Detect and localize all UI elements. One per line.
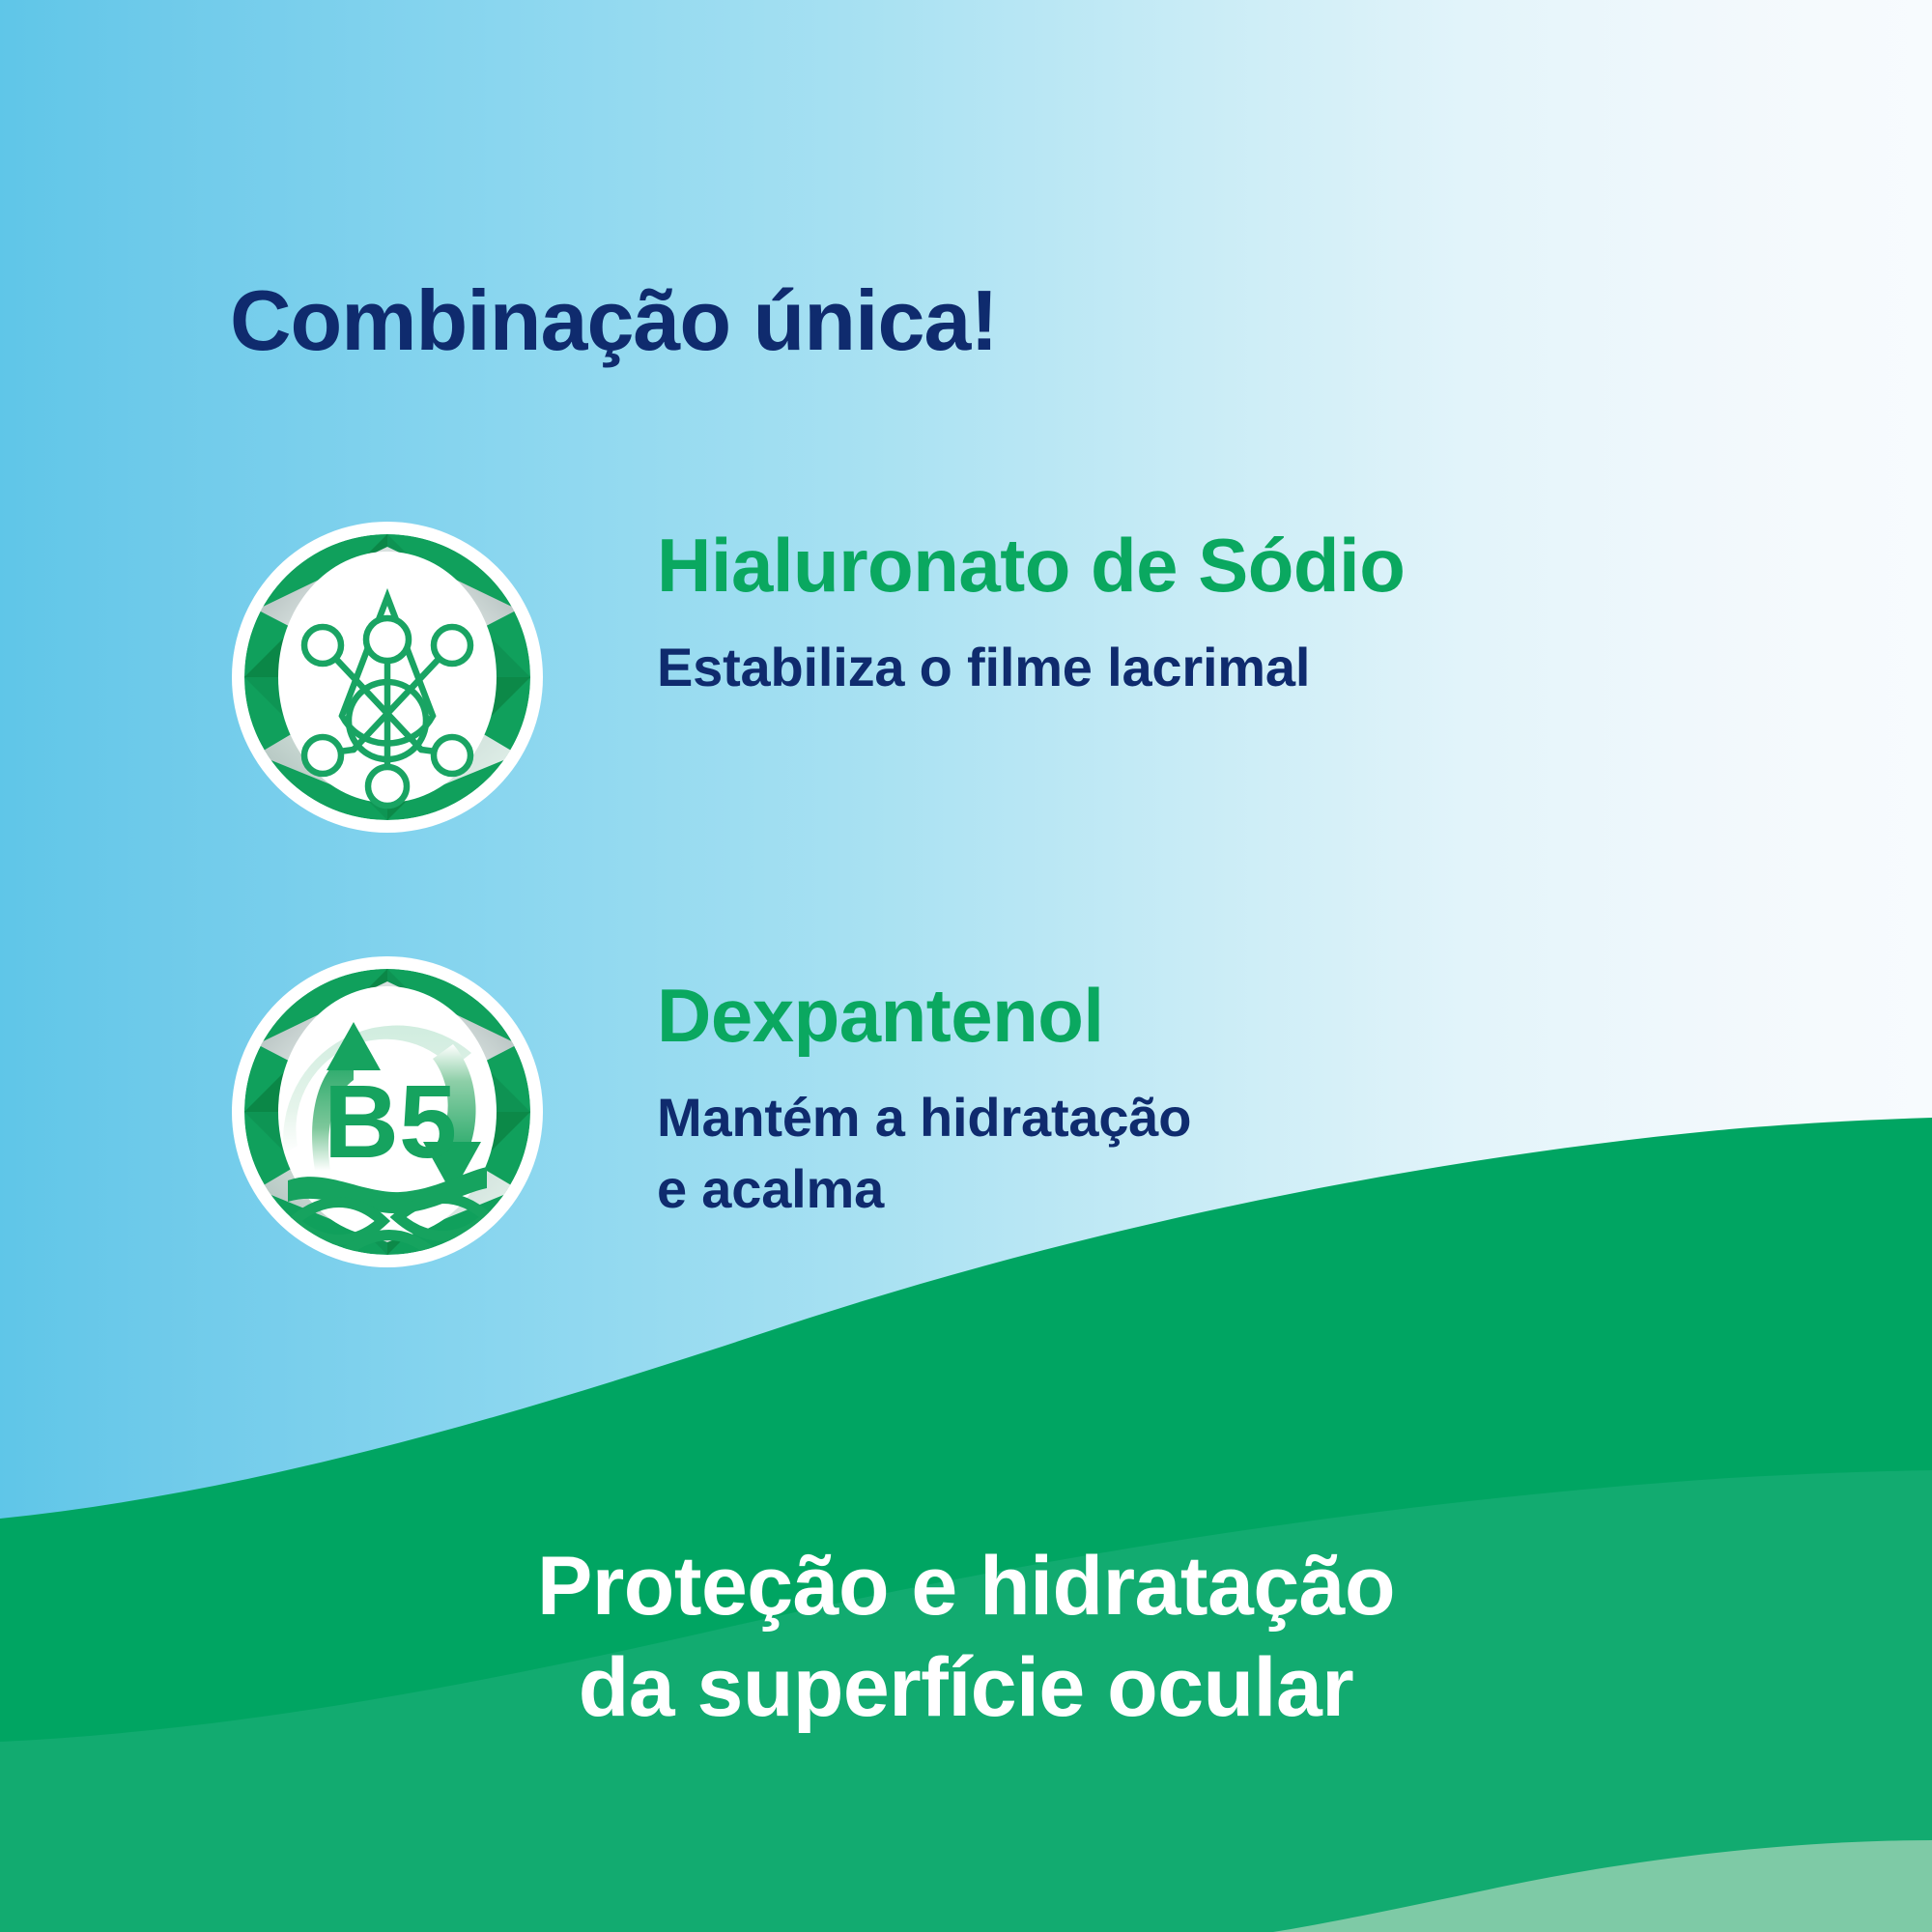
feature-title: Hialuronato de Sódio [657,527,1405,603]
feature-text-block: Hialuronato de Sódio Estabiliza o filme … [657,518,1405,703]
promo-poster: Combinação única! [0,0,1932,1932]
feature-row-hyaluronate: Hialuronato de Sódio Estabiliza o filme … [228,518,1405,837]
feature-text-block: Dexpantenol Mantém a hidratação e acalma [657,952,1191,1225]
banner-text: Proteção e hidratação da superfície ocul… [0,1536,1932,1739]
b5-badge-label: B5 [324,1063,457,1179]
feature-subtitle: Estabiliza o filme lacrimal [657,632,1405,703]
wave-accent [1273,1840,1932,1932]
page-title: Combinação única! [230,278,998,363]
feature-subtitle: Mantém a hidratação e acalma [657,1082,1191,1225]
b5-dexpanthenol-cycle-icon: B5 [228,952,547,1271]
feature-title: Dexpantenol [657,978,1191,1053]
feature-row-dexpanthenol: B5 Dexpantenol Mantém a hidratação e aca… [228,952,1191,1271]
hyaluronic-acid-droplet-molecule-icon [228,518,547,837]
